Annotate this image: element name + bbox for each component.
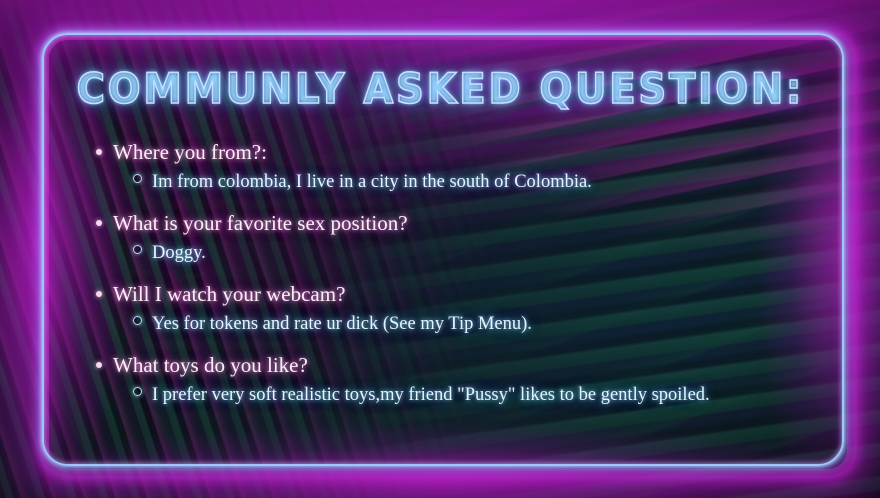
- answer-text: I prefer very soft realistic toys,my fri…: [152, 385, 710, 406]
- question-text: Where you from?:: [113, 140, 267, 165]
- faq-item: Where you from?: Im from colombia, I liv…: [96, 140, 836, 193]
- bullet-filled-icon: [96, 220, 102, 226]
- faq-slide: COMMUNLY ASKED QUESTION: Where you from?…: [0, 0, 880, 498]
- bullet-filled-icon: [96, 149, 102, 155]
- answer-text: Doggy.: [152, 243, 206, 264]
- bullet-hollow-icon: [133, 387, 142, 396]
- answer-row: I prefer very soft realistic toys,my fri…: [96, 385, 836, 406]
- question-text: What is your favorite sex position?: [113, 211, 408, 236]
- faq-item: Will I watch your webcam? Yes for tokens…: [96, 282, 836, 335]
- bullet-hollow-icon: [133, 316, 142, 325]
- question-row: Will I watch your webcam?: [96, 282, 836, 307]
- answer-row: Im from colombia, I live in a city in th…: [96, 172, 836, 193]
- faq-item: What toys do you like? I prefer very sof…: [96, 353, 836, 406]
- faq-list: Where you from?: Im from colombia, I liv…: [96, 140, 836, 406]
- question-row: Where you from?:: [96, 140, 836, 165]
- question-row: What is your favorite sex position?: [96, 211, 836, 236]
- title-container: COMMUNLY ASKED QUESTION:: [0, 68, 880, 110]
- bullet-filled-icon: [96, 362, 102, 368]
- bullet-hollow-icon: [133, 245, 142, 254]
- question-text: Will I watch your webcam?: [113, 282, 345, 307]
- answer-row: Doggy.: [96, 243, 836, 264]
- question-text: What toys do you like?: [113, 353, 308, 378]
- page-title: COMMUNLY ASKED QUESTION:: [76, 68, 804, 110]
- faq-item: What is your favorite sex position? Dogg…: [96, 211, 836, 264]
- bullet-hollow-icon: [133, 174, 142, 183]
- bullet-filled-icon: [96, 291, 102, 297]
- answer-text: Yes for tokens and rate ur dick (See my …: [152, 314, 532, 335]
- question-row: What toys do you like?: [96, 353, 836, 378]
- answer-row: Yes for tokens and rate ur dick (See my …: [96, 314, 836, 335]
- answer-text: Im from colombia, I live in a city in th…: [152, 172, 592, 193]
